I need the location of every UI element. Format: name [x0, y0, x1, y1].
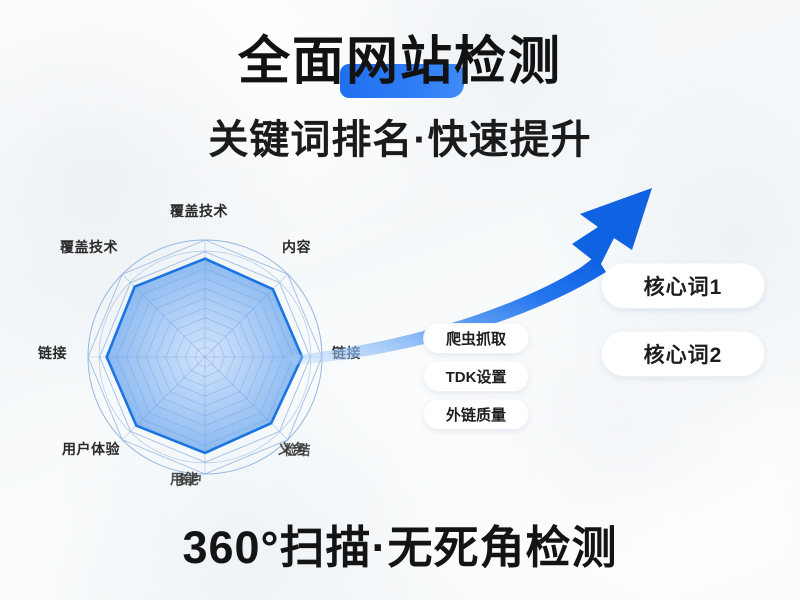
keyword-card-2[interactable]: 核心词2 — [602, 332, 764, 376]
radar-label-bottom: 用能多户 — [170, 469, 199, 489]
radar-label-bottom-b: 多户 — [176, 470, 204, 490]
headline-segment-after: 检测 — [454, 33, 562, 91]
radar-label-top: 覆盖技术 — [170, 201, 228, 221]
radar-chart: 覆盖技术 内容 链接 义务检结 用能多户 用户体验 链接 覆盖技术 — [30, 195, 390, 515]
radar-label-lower-right-b: 检结 — [284, 440, 312, 460]
radar-label-lower-left: 用户体验 — [62, 439, 120, 459]
subtitle: 关键词排名·快速提升 — [0, 118, 800, 162]
keyword-card-1[interactable]: 核心词1 — [602, 264, 764, 308]
tag-backlink-quality[interactable]: 外链质量 — [424, 400, 528, 429]
footer-tagline: 360°扫描·无死角检测 — [0, 524, 800, 571]
arrow-head — [572, 188, 652, 266]
tag-crawl[interactable]: 爬虫抓取 — [424, 324, 528, 353]
tag-tdk[interactable]: TDK设置 — [424, 362, 528, 391]
radar-label-lower-right: 义务检结 — [278, 439, 307, 459]
radar-label-upper-left: 覆盖技术 — [60, 237, 118, 257]
radar-label-upper-right: 内容 — [282, 237, 311, 257]
page-title: 全面网站检测 — [0, 36, 800, 88]
headline-segment-before: 全面 — [238, 33, 346, 91]
headline-text: 全面网站检测 — [238, 36, 562, 88]
radar-label-right: 链接 — [332, 343, 361, 363]
poster-canvas: 全面网站检测 关键词排名·快速提升 覆盖技术 内容 链接 义务检结 用能多户 用… — [0, 0, 800, 600]
radar-label-left: 链接 — [38, 343, 67, 363]
headline-highlight: 网站 — [346, 36, 454, 88]
